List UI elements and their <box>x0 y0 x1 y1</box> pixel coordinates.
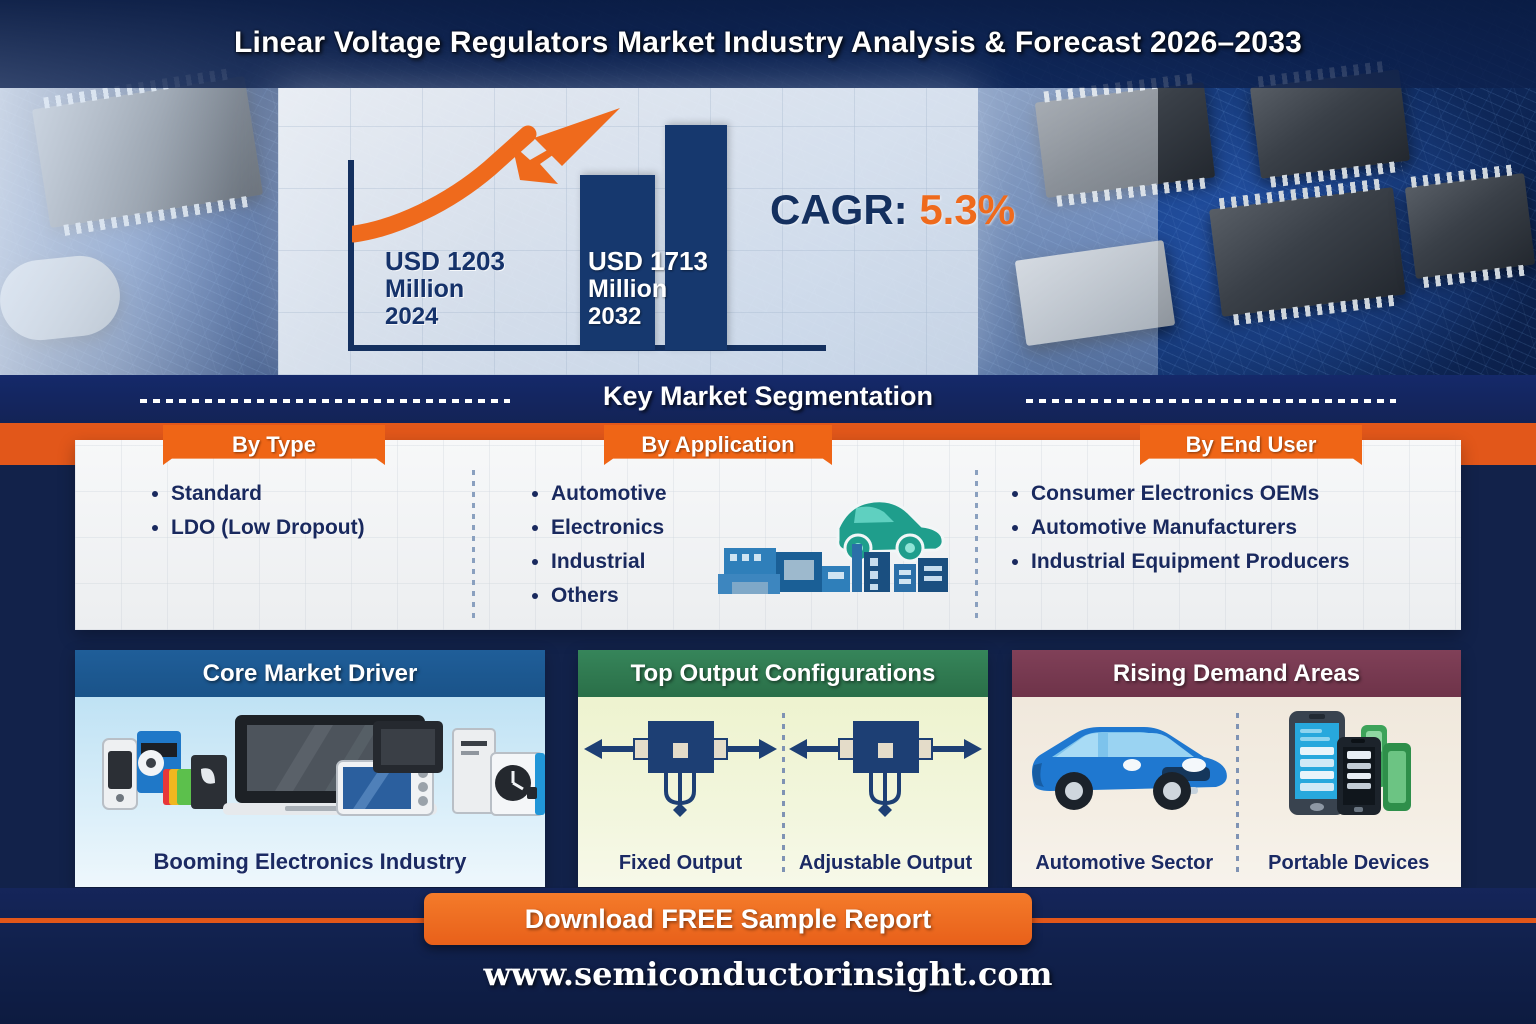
unit-2032: Million <box>588 276 708 303</box>
list-item: Consumer Electronics OEMs <box>1031 482 1445 506</box>
panel-top-output-configurations: Top Output Configurations Fixed Ou <box>578 650 988 887</box>
portable-devices-icon <box>1237 703 1461 821</box>
segment-divider <box>472 470 475 618</box>
panel-core-market-driver: Core Market Driver <box>75 650 545 887</box>
panel-body: Automotive Sector <box>1012 697 1461 887</box>
panel-body: Fixed Output Adjustable Output <box>578 697 988 887</box>
cagr-value: 5.3% <box>919 186 1015 233</box>
list-item: Automotive Manufacturers <box>1031 516 1445 540</box>
panel-heading: Core Market Driver <box>75 650 545 697</box>
year-2024: 2024 <box>385 304 505 329</box>
segment-divider <box>975 470 978 618</box>
adjustable-output-cell: Adjustable Output <box>783 697 988 887</box>
segment-list-by-type: Standard LDO (Low Dropout) <box>145 482 445 550</box>
website-url[interactable]: www.semiconductorinsight.com <box>0 955 1536 993</box>
cell-caption: Fixed Output <box>578 852 783 875</box>
cagr-readout: CAGR: 5.3% <box>770 186 1015 234</box>
chart-label-2024: USD 1203 Million 2024 <box>385 248 505 329</box>
list-item: LDO (Low Dropout) <box>171 516 445 540</box>
cell-caption: Adjustable Output <box>783 852 988 875</box>
ic-chip-icon <box>1405 173 1535 279</box>
page-title: Linear Voltage Regulators Market Industr… <box>0 26 1536 60</box>
value-2032: USD 1713 <box>588 248 708 276</box>
download-sample-report-button[interactable]: Download FREE Sample Report <box>424 893 1032 945</box>
cagr-label: CAGR: <box>770 186 908 233</box>
consumer-electronics-icon <box>75 703 545 821</box>
panel-body: Booming Electronics Industry <box>75 697 545 887</box>
cell-caption: Portable Devices <box>1237 852 1462 875</box>
ic-chip-icon <box>1209 187 1406 317</box>
year-2032: 2032 <box>588 304 708 329</box>
segmentation-title: Key Market Segmentation <box>0 381 1536 412</box>
portable-devices-cell: Portable Devices <box>1237 697 1462 887</box>
fixed-output-cell: Fixed Output <box>578 697 783 887</box>
infographic-root: Linear Voltage Regulators Market Industr… <box>0 0 1536 1024</box>
adjustable-output-regulator-icon <box>783 703 988 821</box>
unit-2024: Million <box>385 276 505 303</box>
chart-label-2032: USD 1713 Million 2032 <box>588 248 708 329</box>
growth-arrow-icon <box>352 108 642 258</box>
blue-car-icon <box>1012 703 1236 821</box>
value-2024: USD 1203 <box>385 248 505 276</box>
automotive-industry-icon <box>718 482 958 617</box>
list-item: Standard <box>171 482 445 506</box>
list-item: Industrial Equipment Producers <box>1031 550 1445 574</box>
panel-rising-demand-areas: Rising Demand Areas <box>1012 650 1461 887</box>
fixed-output-regulator-icon <box>578 703 783 821</box>
panel-heading: Rising Demand Areas <box>1012 650 1461 697</box>
panel-heading: Top Output Configurations <box>578 650 988 697</box>
hero-section: Linear Voltage Regulators Market Industr… <box>0 0 1536 375</box>
segment-list-by-end-user: Consumer Electronics OEMs Automotive Man… <box>1005 482 1445 584</box>
cell-caption: Automotive Sector <box>1012 852 1237 875</box>
automotive-sector-cell: Automotive Sector <box>1012 697 1237 887</box>
panel-caption: Booming Electronics Industry <box>75 849 545 875</box>
